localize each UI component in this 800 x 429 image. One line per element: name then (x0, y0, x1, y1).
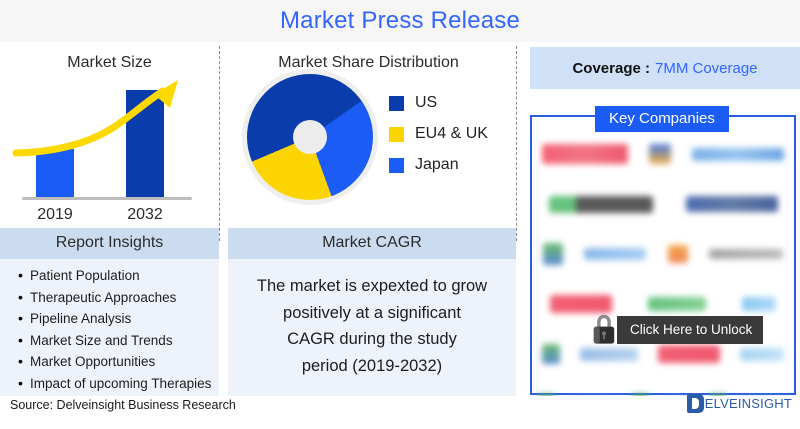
market-size-title: Market Size (0, 44, 219, 72)
report-insights-panel: Report Insights Patient Population Thera… (0, 228, 219, 398)
report-insights-list: Patient Population Therapeutic Approache… (0, 259, 219, 394)
company-logo-grid (532, 129, 794, 389)
donut-hole (293, 120, 327, 154)
bar-chart: 2019 2032 (0, 76, 219, 226)
market-share-panel: Market Share Distribution US EU4 & UK (221, 44, 516, 240)
key-companies-badge: Key Companies (595, 106, 729, 132)
company-logo (542, 344, 560, 364)
coverage-value: 7MM Coverage (655, 60, 758, 77)
cagr-line: positively at a significant (242, 300, 502, 327)
company-logo (549, 196, 653, 213)
delveinsight-logo: ELVEINSIGHT (687, 394, 792, 413)
source-note: Source: Delveinsight Business Research (10, 398, 236, 412)
donut-chart: US EU4 & UK Japan (221, 74, 516, 219)
company-logo (542, 144, 628, 164)
list-item: Patient Population (18, 265, 219, 287)
growth-arrow-icon (0, 76, 219, 226)
company-logo (648, 297, 706, 311)
company-logo (580, 348, 638, 361)
company-logo (740, 348, 784, 361)
unlock-label[interactable]: Click Here to Unlock (617, 316, 763, 344)
legend-item-us: US (389, 94, 488, 112)
press-release-infographic: Market Press Release Market Size 2019 20… (0, 0, 800, 420)
page-title: Market Press Release (280, 7, 520, 35)
bar-label-2019: 2019 (23, 206, 87, 224)
legend-label-japan: Japan (415, 156, 459, 174)
company-logo (742, 297, 776, 311)
divider-right (516, 46, 517, 241)
legend-swatch-icon (389, 127, 404, 142)
coverage-banner: Coverage : 7MM Coverage (530, 47, 800, 89)
lock-icon (587, 312, 621, 348)
list-item: Market Size and Trends (18, 330, 219, 352)
unlock-overlay[interactable]: Click Here to Unlock (587, 312, 763, 348)
company-logo (692, 148, 784, 161)
legend-swatch-icon (389, 96, 404, 111)
logo-row (532, 129, 794, 179)
list-item: Market Opportunities (18, 351, 219, 373)
cagr-line: period (2019-2032) (242, 353, 502, 380)
content-area: Market Size 2019 2032 Market Share Distr… (0, 42, 800, 420)
logo-row (532, 229, 794, 279)
company-logo (668, 245, 688, 263)
company-logo (550, 295, 612, 313)
list-item: Pipeline Analysis (18, 308, 219, 330)
market-size-panel: Market Size 2019 2032 (0, 44, 219, 240)
legend-label-eu4-uk: EU4 & UK (415, 125, 488, 143)
divider-left (219, 46, 220, 241)
key-companies-panel[interactable]: Click Here to Unlock (530, 115, 796, 395)
market-cagr-body: The market is expexted to grow positivel… (228, 259, 516, 380)
company-logo (584, 248, 646, 260)
brand-d-icon (687, 394, 704, 413)
title-bar: Market Press Release (0, 0, 800, 42)
footer: Source: Delveinsight Business Research E… (0, 396, 800, 420)
company-logo (543, 243, 563, 265)
market-cagr-panel: Market CAGR The market is expexted to gr… (228, 228, 516, 398)
company-logo (686, 196, 778, 212)
cagr-line: The market is expexted to grow (242, 273, 502, 300)
cagr-line: CAGR during the study (242, 326, 502, 353)
bar-label-2032: 2032 (113, 206, 177, 224)
brand-name: ELVEINSIGHT (705, 396, 792, 411)
chart-legend: US EU4 & UK Japan (389, 94, 488, 187)
legend-item-eu4-uk: EU4 & UK (389, 125, 488, 143)
list-item: Therapeutic Approaches (18, 287, 219, 309)
coverage-label: Coverage : (572, 60, 650, 77)
legend-label-us: US (415, 94, 437, 112)
market-share-title: Market Share Distribution (221, 44, 516, 72)
legend-item-japan: Japan (389, 156, 488, 174)
donut-ring (247, 74, 373, 200)
market-cagr-header: Market CAGR (228, 228, 516, 259)
company-logo (709, 249, 783, 259)
legend-swatch-icon (389, 158, 404, 173)
list-item: Impact of upcoming Therapies (18, 373, 219, 395)
company-logo (649, 144, 671, 164)
logo-row (532, 179, 794, 229)
report-insights-header: Report Insights (0, 228, 219, 259)
